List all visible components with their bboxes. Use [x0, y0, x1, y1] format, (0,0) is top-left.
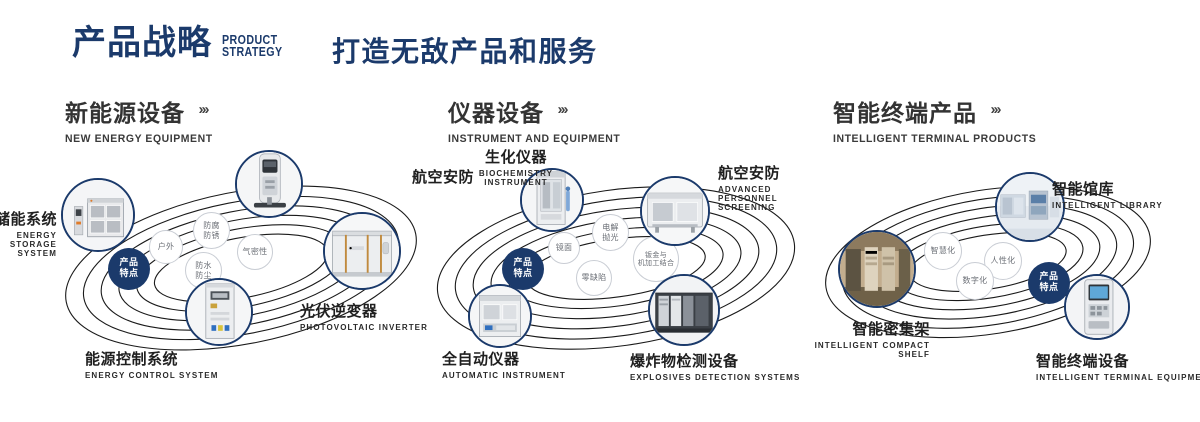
- caption-en: EXPLOSIVES DETECTION SYSTEMS: [630, 373, 800, 382]
- explosives-detection-icon: [650, 276, 718, 344]
- section-header-instrument: 仪器设备 ››› INSTRUMENT AND EQUIPMENT: [448, 94, 629, 145]
- caption-en: AUTOMATIC INSTRUMENT: [442, 371, 566, 380]
- page-title-en: PRODUCT STRATEGY: [222, 34, 283, 58]
- node-automatic-instrument[interactable]: [468, 284, 532, 348]
- core-badge-new-energy: 产品 特点: [108, 248, 150, 290]
- caption-cn: 储能系统: [0, 208, 57, 229]
- control-system-icon: [187, 280, 251, 344]
- feature-bubble-label: 气密性: [243, 247, 268, 257]
- feature-bubble-mirror: 镜面: [548, 232, 580, 264]
- core-badge-line1: 产品: [513, 258, 532, 269]
- feature-bubble-label: 户外: [158, 242, 175, 252]
- feature-bubble-label: 零缺陷: [582, 273, 607, 283]
- chevron-right-icon-intelligent-terminal: ›››: [990, 101, 999, 118]
- caption-energy-storage-system: 储能系统 ENERGY STORAGE SYSTEM: [0, 208, 57, 258]
- caption-en: INTELLIGENT COMPACT SHELF: [810, 341, 930, 359]
- terminal-equipment-icon: [1066, 276, 1128, 338]
- core-badge-line2: 特点: [119, 269, 138, 280]
- node-intelligent-compact-shelf[interactable]: [838, 230, 916, 308]
- section-header-new-energy: 新能源设备 ››› NEW ENERGY EQUIPMENT: [65, 94, 220, 145]
- product-strategy-infographic: 产品战略 PRODUCT STRATEGY 打造无敌产品和服务 新能源设备 ››…: [0, 0, 1200, 422]
- feature-bubble-digitalized: 数字化: [956, 262, 994, 300]
- caption-explosives-detection-systems: 爆炸物检测设备 EXPLOSIVES DETECTION SYSTEMS: [630, 350, 800, 382]
- page-title-en-line2: STRATEGY: [222, 46, 283, 58]
- feature-bubble-zero-defect: 零缺陷: [576, 260, 612, 296]
- core-badge-instrument: 产品 特点: [502, 248, 544, 290]
- automatic-instrument-icon: [470, 286, 530, 346]
- caption-advanced-personnel-screening: 航空安防 ADVANCED PERSONNEL SCREENING: [718, 162, 818, 212]
- node-energy-control-system[interactable]: [185, 278, 253, 346]
- section-title-cn-intelligent-terminal: 智能终端产品: [833, 94, 977, 128]
- caption-en: INTELLIGENT LIBRARY: [1052, 201, 1163, 210]
- caption-cn: 能源控制系统: [85, 348, 219, 369]
- inverter-icon: [325, 214, 399, 288]
- caption-en: BIOCHEMISTRY INSTRUMENT: [470, 169, 562, 187]
- caption-en: INTELLIGENT TERMINAL EQUIPMENT: [1036, 373, 1200, 382]
- caption-intelligent-compact-shelf: 智能密集架 INTELLIGENT COMPACT SHELF: [810, 318, 930, 359]
- personnel-screening-icon: [642, 178, 708, 244]
- feature-bubble-electropolishing: 电解 抛光: [592, 214, 629, 251]
- node-advanced-personnel-screening[interactable]: [640, 176, 710, 246]
- chevron-right-icon-new-energy: ›››: [198, 101, 207, 118]
- page-subtitle: 打造无敌产品和服务: [332, 30, 598, 70]
- caption-cn: 全自动仪器: [442, 348, 566, 369]
- compact-shelf-icon: [840, 232, 914, 306]
- cluster-new-energy: 户外 防腐 防锈 防水 防尘 气密性 产品 特点: [45, 150, 435, 380]
- cluster-instrument: 镜面 电解 抛光 钣金与 机加工结合 零缺陷 产品 特点: [428, 150, 818, 380]
- page-header: 产品战略 PRODUCT STRATEGY: [72, 26, 296, 60]
- page-title-cn: 产品战略: [72, 26, 212, 60]
- feature-bubble-label: 防锈: [203, 231, 220, 241]
- feature-bubble-label: 数字化: [963, 276, 988, 286]
- caption-cn: 爆炸物检测设备: [630, 350, 800, 371]
- caption-cn: 光伏逆变器: [300, 300, 428, 321]
- feature-bubble-label: 智慧化: [931, 246, 956, 256]
- caption-cn: 航空安防: [718, 162, 818, 183]
- caption-photovoltaic-inverter: 光伏逆变器 PHOTOVOLTAIC INVERTER: [300, 300, 428, 332]
- core-badge-line1: 产品: [1039, 272, 1058, 283]
- section-title-cn-instrument: 仪器设备: [448, 94, 544, 128]
- section-title-en-new-energy: NEW ENERGY EQUIPMENT: [65, 133, 213, 145]
- core-badge-line2: 特点: [513, 269, 532, 280]
- cluster-intelligent-terminal: 智慧化 人性化 数字化 产品 特点: [820, 150, 1190, 380]
- caption-intelligent-library: 智能馆库 INTELLIGENT LIBRARY: [1052, 178, 1163, 210]
- caption-en: ENERGY CONTROL SYSTEM: [85, 371, 219, 380]
- core-badge-line1: 产品: [119, 258, 138, 269]
- caption-cn: 智能终端设备: [1036, 350, 1200, 371]
- node-photovoltaic-inverter[interactable]: [323, 212, 401, 290]
- feature-bubble-label: 防腐: [203, 221, 220, 231]
- caption-cn: 航空安防: [398, 166, 474, 187]
- caption-cn: 生化仪器: [470, 146, 562, 167]
- charging-hub-icon: [237, 152, 301, 216]
- caption-cn: 智能密集架: [810, 318, 930, 339]
- energy-storage-icon: [63, 180, 133, 250]
- feature-bubble-label: 电解: [602, 223, 619, 233]
- node-intelligent-terminal-equipment[interactable]: [1064, 274, 1130, 340]
- node-energy-storage-system[interactable]: [61, 178, 135, 252]
- caption-en: PHOTOVOLTAIC INVERTER: [300, 323, 428, 332]
- caption-automatic-instrument: 全自动仪器 AUTOMATIC INSTRUMENT: [442, 348, 566, 380]
- section-title-en-intelligent-terminal: INTELLIGENT TERMINAL PRODUCTS: [833, 133, 1036, 145]
- section-header-intelligent-terminal: 智能终端产品 ››› INTELLIGENT TERMINAL PRODUCTS: [833, 94, 1047, 145]
- feature-bubble-airtight: 气密性: [237, 234, 273, 270]
- caption-en: ENERGY STORAGE SYSTEM: [0, 231, 57, 258]
- chevron-right-icon-instrument: ›››: [557, 101, 566, 118]
- feature-bubble-label: 钣金与: [645, 251, 667, 260]
- caption-cn: 智能馆库: [1052, 178, 1163, 199]
- section-title-cn-new-energy: 新能源设备: [65, 94, 185, 128]
- feature-bubble-outdoor: 户外: [149, 230, 183, 264]
- node-super-charging-hub[interactable]: [235, 150, 303, 218]
- caption-biochemistry-instrument: 生化仪器 BIOCHEMISTRY INSTRUMENT: [470, 146, 562, 187]
- feature-bubble-label: 抛光: [602, 233, 619, 243]
- core-badge-intelligent-terminal: 产品 特点: [1028, 262, 1070, 304]
- feature-bubble-label: 人性化: [991, 256, 1016, 266]
- caption-en: ADVANCED PERSONNEL SCREENING: [718, 185, 818, 212]
- core-badge-line2: 特点: [1039, 283, 1058, 294]
- caption-aviation-security-left: 航空安防: [398, 166, 474, 187]
- caption-intelligent-terminal-equipment: 智能终端设备 INTELLIGENT TERMINAL EQUIPMENT: [1036, 350, 1200, 382]
- feature-bubble-label: 防水: [195, 261, 212, 271]
- caption-energy-control-system: 能源控制系统 ENERGY CONTROL SYSTEM: [85, 348, 219, 380]
- feature-bubble-anticorrosion: 防腐 防锈: [193, 212, 230, 249]
- section-title-en-instrument: INSTRUMENT AND EQUIPMENT: [448, 133, 620, 145]
- feature-bubble-label: 机加工结合: [638, 259, 675, 268]
- feature-bubble-intelligent: 智慧化: [924, 232, 962, 270]
- feature-bubble-label: 镜面: [556, 243, 573, 253]
- node-explosives-detection-systems[interactable]: [648, 274, 720, 346]
